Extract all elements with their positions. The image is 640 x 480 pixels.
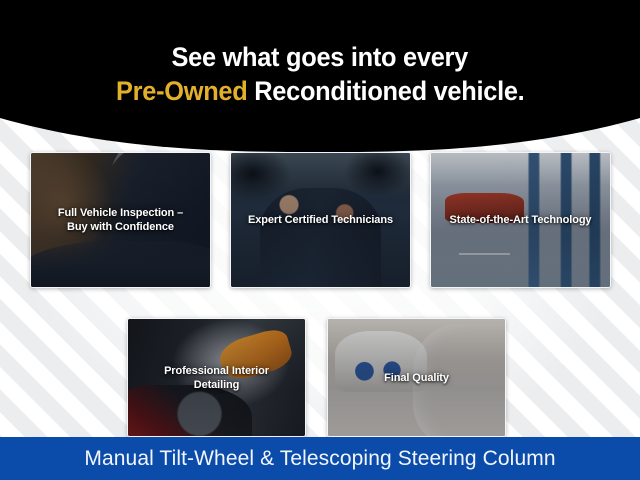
- feature-card-professional-interior-detailing[interactable]: Professional Interior Detailing: [127, 318, 306, 437]
- feature-card-label: Professional Interior Detailing: [128, 319, 305, 436]
- card-label-line-1: Professional Interior: [164, 365, 269, 377]
- feature-card-expert-certified-technicians[interactable]: Expert Certified Technicians: [230, 152, 411, 288]
- feature-card-final-quality[interactable]: Final Quality: [327, 318, 506, 437]
- feature-card-label: Final Quality: [328, 319, 505, 436]
- vehicle-feature-banner: Manual Tilt-Wheel & Telescoping Steering…: [0, 437, 640, 480]
- header-curved-panel: [0, 0, 640, 152]
- feature-card-state-of-the-art-technology[interactable]: State-of-the-Art Technology: [430, 152, 611, 288]
- promo-banner-stage: See what goes into every Pre-Owned Recon…: [0, 0, 640, 480]
- card-label-line-1: Expert Certified Technicians: [248, 213, 393, 227]
- feature-card-full-vehicle-inspection[interactable]: Full Vehicle Inspection – Buy with Confi…: [30, 152, 211, 288]
- card-label-line-1: Full Vehicle Inspection –: [58, 207, 183, 219]
- card-label-line-1: State-of-the-Art Technology: [450, 213, 592, 227]
- feature-card-label: State-of-the-Art Technology: [431, 153, 610, 287]
- feature-card-label: Expert Certified Technicians: [231, 153, 410, 287]
- feature-card-label: Full Vehicle Inspection – Buy with Confi…: [31, 153, 210, 287]
- card-label-line-1: Final Quality: [384, 371, 449, 385]
- card-label-line-2: Detailing: [194, 379, 240, 391]
- card-label-line-2: Buy with Confidence: [67, 221, 174, 233]
- vehicle-feature-banner-text: Manual Tilt-Wheel & Telescoping Steering…: [84, 447, 555, 471]
